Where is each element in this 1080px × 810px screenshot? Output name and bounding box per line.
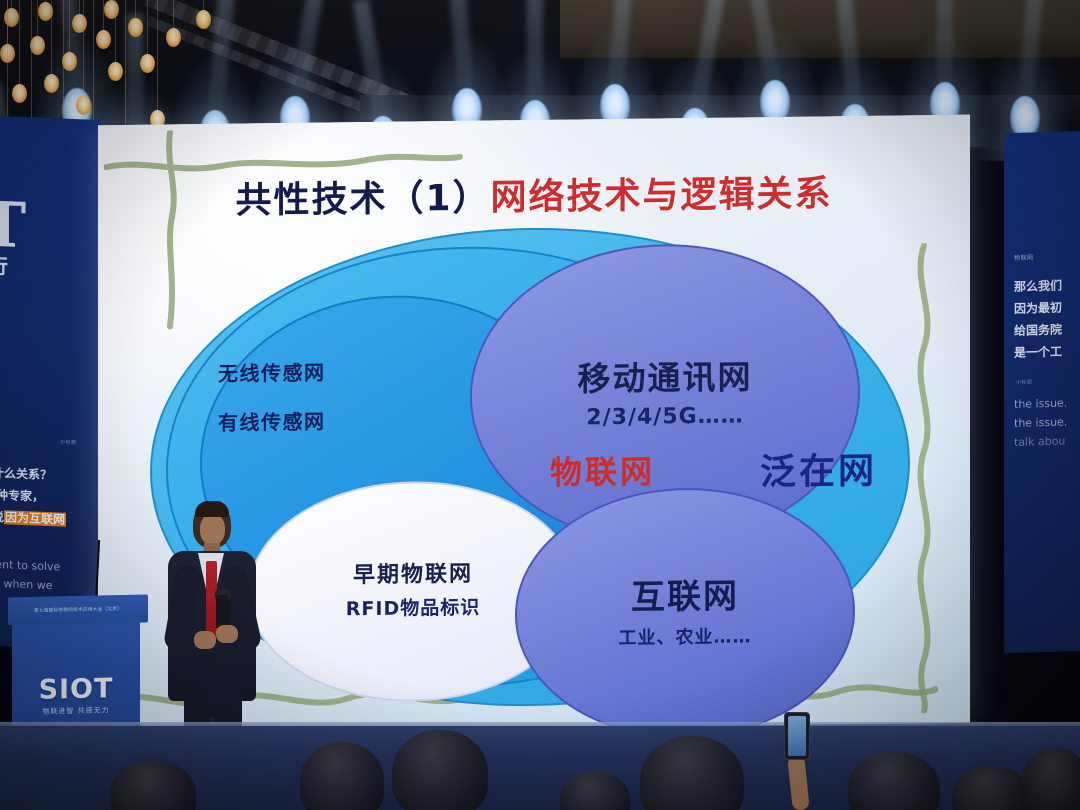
warm-bulb bbox=[44, 74, 59, 93]
bulb-wire bbox=[69, 0, 70, 52]
speaker-head bbox=[193, 503, 231, 548]
warm-bulb bbox=[72, 14, 87, 33]
side-right-cn-line-4: 是一个工 bbox=[1014, 344, 1062, 363]
speaker-right-hand bbox=[216, 625, 238, 643]
side-right-en-line-3: talk abou bbox=[1014, 433, 1065, 451]
side-right-cn-line-3: 给国务院 bbox=[1014, 322, 1062, 341]
warm-bulb bbox=[96, 30, 111, 49]
smartphone-recording[interactable] bbox=[784, 712, 810, 760]
warm-bulb bbox=[12, 84, 27, 103]
label-mobile-generations: 2/3/4/5G…… bbox=[586, 403, 743, 430]
warm-bulb bbox=[108, 62, 123, 81]
podium-banner-text: 第七届国际物联网技术应用大会（北京） bbox=[18, 599, 138, 622]
side-left-en-line-2: ology when we bbox=[0, 575, 52, 595]
side-right-tiny: 小标题 bbox=[1016, 378, 1033, 385]
label-wired-sensor-network: 有线传感网 bbox=[218, 398, 326, 448]
label-rfid-item-identification: RFID物品标识 bbox=[346, 593, 480, 622]
warm-bulb bbox=[30, 36, 45, 55]
slide-title-highlight: 网络技术与逻辑关系 bbox=[491, 173, 833, 218]
bulb-wire bbox=[147, 0, 148, 54]
warm-bulb bbox=[140, 54, 155, 73]
side-screen-right: 物联网 那么我们 因为最初 给国务院 是一个工 小标题 the issue. t… bbox=[1004, 131, 1080, 653]
bulb-wire bbox=[37, 0, 38, 36]
ceiling-slab bbox=[560, 0, 1080, 58]
smartphone-screen bbox=[788, 716, 806, 756]
warm-bulb bbox=[166, 28, 181, 47]
podium-tagline: 物联进智 共感无力 bbox=[12, 705, 140, 718]
label-internet: 互联网 bbox=[631, 576, 739, 617]
bulb-wire bbox=[135, 0, 136, 18]
light-beam bbox=[937, 0, 953, 94]
handheld-microphone bbox=[216, 595, 229, 629]
light-beam bbox=[527, 0, 543, 112]
side-right-cn-line-1: 那么我们 bbox=[1014, 278, 1062, 297]
photograph-scene: T 行 小标题 一个什么关系？ 的这种专家， 就说因为互联网 mponent t… bbox=[0, 0, 1080, 810]
side-left-logo-sub: 行 bbox=[0, 252, 8, 282]
bulb-wire bbox=[203, 0, 204, 10]
bulb-wire bbox=[93, 0, 94, 128]
side-left-tiny: 小标题 bbox=[60, 438, 77, 446]
side-right-en-line-2: the issue. bbox=[1014, 414, 1067, 432]
slide-title-prefix: 共性技术（1） bbox=[235, 178, 490, 222]
bulb-wire bbox=[157, 0, 158, 110]
warm-bulb bbox=[196, 10, 211, 29]
label-wireless-sensor-network: 无线传感网 bbox=[218, 349, 326, 399]
side-left-en-line-1: mponent to solve bbox=[0, 556, 60, 576]
audience-head bbox=[640, 736, 744, 810]
bulb-wire bbox=[115, 0, 116, 62]
vine-decoration-right bbox=[904, 243, 944, 713]
side-right-cn-line-2: 因为最初 bbox=[1014, 300, 1062, 319]
speaker-left-hand bbox=[194, 631, 216, 649]
audience-head bbox=[300, 742, 384, 810]
bulb-wire bbox=[83, 0, 84, 96]
bulb-wire bbox=[51, 0, 52, 74]
label-internet-of-things: 物联网 bbox=[550, 447, 655, 494]
bulb-wire bbox=[31, 0, 32, 122]
bulb-wire bbox=[103, 0, 104, 30]
label-industry-agriculture: 工业、农业…… bbox=[619, 622, 752, 650]
warm-bulb bbox=[104, 0, 119, 19]
label-mobile-communication-network: 移动通讯网 bbox=[578, 358, 753, 399]
side-left-logo: T bbox=[0, 187, 27, 262]
bulb-wire bbox=[11, 0, 12, 8]
sensor-network-labels: 无线传感网 有线传感网 bbox=[218, 349, 326, 448]
podium-logo-siot: SIOT bbox=[12, 673, 140, 707]
side-left-highlight: 因为互联网 bbox=[4, 510, 66, 526]
side-right-badge: 物联网 bbox=[1014, 252, 1034, 262]
side-left-cn-line-2: 的这种专家， bbox=[0, 486, 44, 506]
label-early-iot: 早期物联网 bbox=[353, 561, 473, 588]
side-left-cn-line-1: 一个什么关系？ bbox=[0, 464, 52, 485]
label-ubiquitous-network: 泛在网 bbox=[760, 442, 877, 495]
bulb-wire bbox=[173, 0, 174, 28]
warm-bulb bbox=[62, 52, 77, 71]
venn-diagram: 无线传感网 有线传感网 移动通讯网 2/3/4/5G…… 早期物联网 RFID物… bbox=[150, 223, 910, 712]
warm-bulb bbox=[76, 96, 91, 115]
side-right-en-line-1: the issue. bbox=[1014, 395, 1067, 413]
audience-head bbox=[392, 730, 488, 810]
bulb-wire bbox=[19, 0, 20, 84]
warm-bulb bbox=[128, 18, 143, 37]
speaker-face bbox=[200, 514, 225, 545]
bulb-wire bbox=[79, 0, 80, 14]
side-left-cn-line-3: 就说因为互联网 bbox=[0, 508, 66, 529]
side-screen-left: T 行 小标题 一个什么关系？ 的这种专家， 就说因为互联网 mponent t… bbox=[0, 116, 102, 650]
slide-title: 共性技术（1）网络技术与逻辑关系 bbox=[98, 163, 970, 226]
speaker-hair bbox=[195, 501, 229, 517]
audience-head bbox=[1022, 748, 1080, 810]
